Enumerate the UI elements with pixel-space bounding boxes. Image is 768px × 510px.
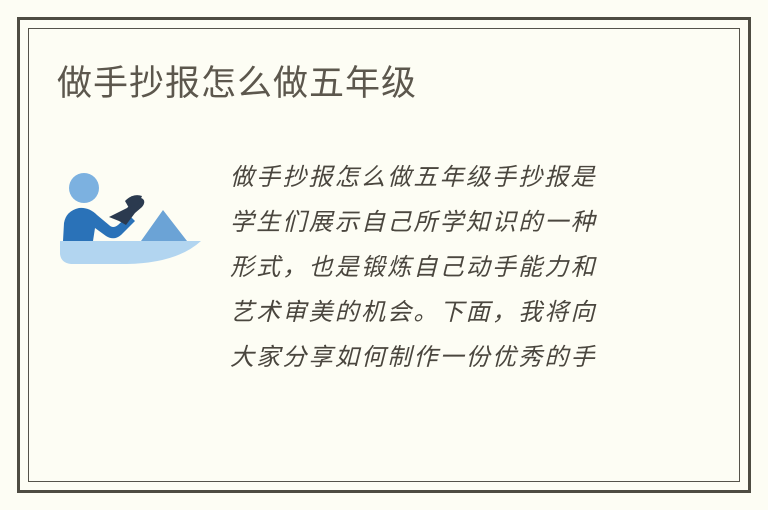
body-line: 做手抄报怎么做五年级手抄报是	[230, 155, 660, 200]
body-line: 学生们展示自己所学知识的一种	[230, 200, 660, 245]
body-line: 艺术审美的机会。下面，我将向	[230, 290, 660, 335]
article-body: 做手抄报怎么做五年级手抄报是 学生们展示自己所学知识的一种 形式，也是锻炼自己动…	[230, 155, 660, 380]
page-title: 做手抄报怎么做五年级	[57, 62, 417, 106]
person-rowing-boat-illustration	[57, 163, 207, 273]
page-root: 做手抄报怎么做五年级 做手抄报怎么做五年级手抄报是 学生们展示自己所学知识的一种…	[0, 0, 768, 510]
article-content: 做手抄报怎么做五年级手抄报是 学生们展示自己所学知识的一种 形式，也是锻炼自己动…	[57, 155, 677, 415]
body-line: 大家分享如何制作一份优秀的手	[230, 335, 660, 380]
body-line: 形式，也是锻炼自己动手能力和	[230, 245, 660, 290]
